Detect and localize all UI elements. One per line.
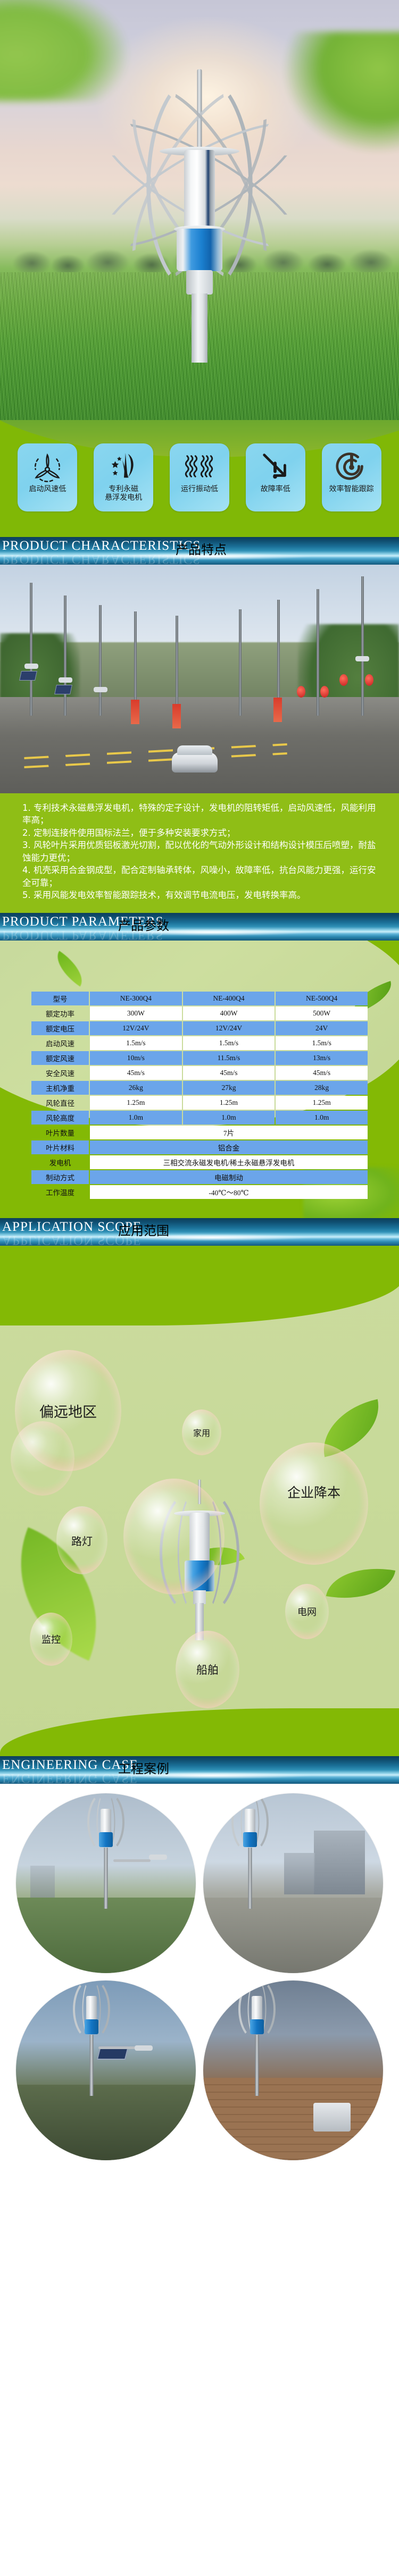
feature-item-low-vibration[interactable]: 运行振动低	[168, 443, 231, 511]
case-photo-grid	[16, 1793, 383, 2160]
turbine-rotor	[237, 1981, 277, 2042]
street-lamp-head	[149, 1855, 167, 1860]
hero-wind-turbine-image	[120, 69, 279, 356]
feature-label: 故障率低	[261, 485, 290, 493]
street-lamp-pole	[361, 576, 364, 716]
row-value: 1.25m	[183, 1096, 275, 1110]
background-building	[314, 1831, 365, 1894]
row-value: 45m/s	[183, 1066, 275, 1080]
bubble-label: 偏远地区	[39, 1400, 97, 1421]
street-lamp-head	[355, 656, 369, 661]
generator-housing	[177, 229, 222, 271]
feature-label: 运行振动低	[181, 485, 218, 493]
turbine-rotor	[86, 1793, 126, 1855]
feature-badge: 启动风速低	[18, 443, 77, 511]
row-value: 300W	[90, 1006, 182, 1020]
row-value: 26kg	[90, 1081, 182, 1095]
application-bubble-street-light[interactable]: 路灯	[56, 1506, 107, 1574]
row-value: 11.5m/s	[183, 1051, 275, 1065]
row-value: 24V	[276, 1021, 368, 1035]
row-value: NE-400Q4	[183, 992, 275, 1005]
row-label: 启动风速	[31, 1036, 89, 1050]
row-value: 45m/s	[90, 1066, 182, 1080]
top-green-shape	[0, 1246, 399, 1325]
street-lamp-head	[24, 664, 38, 669]
row-value: 7片	[90, 1126, 368, 1139]
table-row: 风轮直径1.25m1.25m1.25m	[31, 1096, 368, 1110]
row-value: 1.0m	[90, 1111, 182, 1125]
table-row: 工作温度-40℃～80℃	[31, 1185, 368, 1199]
red-lantern	[320, 686, 329, 698]
row-label: 风轮高度	[31, 1111, 89, 1125]
turbine-pole	[248, 1848, 252, 1909]
table-row: 额定风速10m/s11.5m/s13m/s	[31, 1051, 368, 1065]
table-row: 制动方式电磁制动	[31, 1170, 368, 1184]
feature-badge: 专利永磁 悬浮发电机	[94, 443, 153, 511]
application-scope-section: 偏远地区 家用 企业降本 路灯 电网 监控 船舶	[0, 1246, 399, 1756]
row-label: 额定风速	[31, 1051, 89, 1065]
feature-item-start-wind-speed[interactable]: 启动风速低	[16, 443, 79, 511]
characteristic-line: 5. 采用风能发电效率智能跟踪技术，有效调节电流电压，发电转换率高。	[22, 889, 377, 901]
lamp-arm	[98, 2046, 136, 2049]
characteristics-text-block: 1. 专利技术永磁悬浮发电机，特殊的定子设计，发电机的阻转矩低，启动风速低，风能…	[0, 793, 399, 913]
row-label: 额定功率	[31, 1006, 89, 1020]
turbine-pole	[192, 293, 207, 363]
decorative-leaf-icon	[326, 1559, 395, 1607]
banner-title-cn: 应用范围	[118, 1220, 169, 1239]
row-value: 1.5m/s	[90, 1036, 182, 1050]
table-row: 风轮高度1.0m1.0m1.0m	[31, 1111, 368, 1125]
section-banner-engineering: ENGINEERING CASE ENGINEERING CASE 工程案例	[0, 1756, 399, 1784]
patent-magnetic-blade-icon	[106, 450, 140, 483]
row-value: 27kg	[183, 1081, 275, 1095]
banner-title-en-reflection: PRODUCT CHARACTERISTICS	[2, 551, 201, 565]
decorative-red-banner	[131, 700, 139, 724]
street-application-photo	[0, 565, 399, 793]
product-landing-page: 启动风速低 专利永磁 悬浮发电机	[0, 0, 399, 2176]
decorative-red-banner	[172, 704, 181, 728]
ground	[16, 2085, 196, 2160]
table-row: 额定功率300W400W500W	[31, 1006, 368, 1020]
feature-icon-strip: 启动风速低 专利永磁 悬浮发电机	[0, 420, 399, 537]
row-label: 制动方式	[31, 1170, 89, 1184]
table-row: 叶片材料铝合金	[31, 1140, 368, 1154]
wind-turbine-fan-icon	[30, 450, 64, 483]
banner-title-cn: 工程案例	[118, 1758, 169, 1777]
turbine-pole	[104, 1848, 108, 1909]
street-lamp-head	[94, 687, 107, 692]
application-bubble-monitoring[interactable]: 监控	[30, 1613, 72, 1666]
table-row: 主机净重26kg27kg28kg	[31, 1081, 368, 1095]
street-lamp-pole	[239, 609, 242, 716]
row-label: 型号	[31, 992, 89, 1005]
turbine-neck	[186, 270, 213, 295]
feature-badge: 运行振动低	[170, 443, 229, 511]
red-lantern	[365, 674, 373, 686]
case-photo-street-light-turbine[interactable]	[16, 1793, 196, 1973]
hero-banner	[0, 0, 399, 420]
generator-housing	[85, 2019, 98, 2034]
generator-housing	[250, 2019, 264, 2034]
application-bubble-power-grid[interactable]: 电网	[285, 1584, 329, 1639]
red-lantern	[339, 674, 348, 686]
application-bubble-enterprise-cost[interactable]: 企业降本	[260, 1442, 368, 1565]
solar-panel	[54, 685, 72, 694]
banner-title-cn: 产品参数	[118, 915, 169, 934]
street-lamp-head	[59, 677, 72, 683]
row-label: 叶片材料	[31, 1140, 89, 1154]
row-value: 1.5m/s	[276, 1036, 368, 1050]
case-photo-turbine-parking-lot[interactable]	[203, 1793, 383, 1973]
characteristic-line: 1. 专利技术永磁悬浮发电机，特殊的定子设计，发电机的阻转矩低，启动风速低，风能…	[22, 802, 377, 827]
feature-label: 启动风速低	[29, 485, 66, 493]
row-value: 1.5m/s	[183, 1036, 275, 1050]
row-value: 三相交流永磁发电机/稀土永磁悬浮发电机	[90, 1155, 368, 1169]
row-value: NE-500Q4	[276, 992, 368, 1005]
turbine-neck	[193, 1590, 206, 1604]
street-lamp-pole	[30, 583, 32, 716]
turbine-body	[184, 150, 215, 230]
turbine-rotor	[230, 1793, 270, 1855]
row-value: 铝合金	[90, 1140, 368, 1154]
street-lamp-pole	[317, 589, 319, 716]
table-row: 启动风速1.5m/s1.5m/s1.5m/s	[31, 1036, 368, 1050]
feature-list: 启动风速低 专利永磁 悬浮发电机	[0, 443, 399, 511]
row-label: 风轮直径	[31, 1096, 89, 1110]
feature-badge: 效率智能跟踪	[322, 443, 381, 511]
table-row: 安全风速45m/s45m/s45m/s	[31, 1066, 368, 1080]
generator-housing	[99, 1832, 113, 1847]
specification-table: 型号NE-300Q4NE-400Q4NE-500Q4 额定功率300W400W5…	[30, 991, 369, 1200]
row-value: 28kg	[276, 1081, 368, 1095]
bubble-label: 电网	[297, 1605, 317, 1618]
row-value: 电磁制动	[90, 1170, 368, 1184]
application-bubble-ship[interactable]: 船舶	[176, 1631, 239, 1708]
table-row: 发电机三相交流永磁发电机/稀土永磁悬浮发电机	[31, 1155, 368, 1169]
row-value: 1.0m	[183, 1111, 275, 1125]
table-row: 型号NE-300Q4NE-400Q4NE-500Q4	[31, 992, 368, 1005]
feature-label: 专利永磁 悬浮发电机	[105, 485, 142, 502]
table-row: 额定电压12V/24V12V/24V24V	[31, 1021, 368, 1035]
section-banner-characteristics: PRODUCT CHARACTERISTICS PRODUCT CHARACTE…	[0, 537, 399, 565]
case-photo-turbine-solar-street-lamp[interactable]	[16, 1981, 196, 2160]
row-label: 叶片数量	[31, 1126, 89, 1139]
row-label: 额定电压	[31, 1021, 89, 1035]
application-bubble-household[interactable]: 家用	[182, 1409, 221, 1455]
downward-arrow-icon	[259, 450, 293, 483]
row-label: 安全风速	[31, 1066, 89, 1080]
decorative-leaf-top-right	[282, 32, 399, 154]
street-lamp-pole	[176, 616, 178, 716]
section-banner-application: APPLICATION SCOPE APPLICATION SCOPE 应用范围	[0, 1218, 399, 1246]
feature-item-patent-generator[interactable]: 专利永磁 悬浮发电机	[92, 443, 155, 511]
row-label: 工作温度	[31, 1185, 89, 1199]
row-label: 发电机	[31, 1155, 89, 1169]
street-lamp-head	[135, 2045, 153, 2051]
row-value: 1.0m	[276, 1111, 368, 1125]
smart-tracking-power-icon	[335, 450, 369, 483]
turbine-pole	[89, 2035, 93, 2096]
row-value: NE-300Q4	[90, 992, 182, 1005]
street-lamp-pole	[99, 605, 102, 716]
row-value: 10m/s	[90, 1051, 182, 1065]
row-value: 500W	[276, 1006, 368, 1020]
maintenance-lift	[313, 2103, 351, 2132]
row-value: 12V/24V	[183, 1021, 275, 1035]
red-lantern	[297, 686, 305, 698]
lamp-arm	[113, 1859, 151, 1862]
characteristic-line: 4. 机壳采用合金钢成型，配合定制轴承转体，风噪小，故障率低，抗台风能力更强，运…	[22, 864, 377, 889]
solar-panel	[19, 671, 37, 681]
row-value: 45m/s	[276, 1066, 368, 1080]
turbine-pole	[255, 2035, 259, 2096]
product-parameters-section: 型号NE-300Q4NE-400Q4NE-500Q4 额定功率300W400W5…	[0, 941, 399, 1218]
bubble-label: 家用	[193, 1426, 210, 1439]
feature-label: 效率智能跟踪	[329, 485, 374, 493]
row-value: -40℃～80℃	[90, 1185, 368, 1199]
brick-wall	[203, 2078, 383, 2160]
street-lamp-pole	[64, 595, 66, 716]
row-value: 1.25m	[276, 1096, 368, 1110]
ground	[16, 1898, 196, 1973]
banner-title-cn: 产品特点	[176, 539, 227, 558]
table-row: 叶片数量7片	[31, 1126, 368, 1139]
feature-item-smart-tracking[interactable]: 效率智能跟踪	[320, 443, 383, 511]
bubble-label: 路灯	[71, 1533, 93, 1548]
low-vibration-waves-icon	[182, 450, 217, 483]
ground	[203, 1898, 383, 1973]
decorative-red-banner	[273, 698, 282, 722]
characteristic-line: 2. 定制连接件使用国标法兰，便于多种安装要求方式；	[22, 827, 377, 839]
decorative-leaf-top-left	[0, 0, 128, 101]
characteristic-line: 3. 风轮叶片采用优质铝板激光切割，配以优化的气动外形设计和结构设计模压后喷塑，…	[22, 839, 377, 864]
section-banner-parameters: PRODUCT PARAMETERS PRODUCT PARAMETERS 产品…	[0, 913, 399, 941]
row-value: 400W	[183, 1006, 275, 1020]
generator-housing	[243, 1832, 257, 1847]
bottom-green-shape	[0, 1708, 399, 1756]
decorative-bubble	[123, 1479, 225, 1595]
row-value: 13m/s	[276, 1051, 368, 1065]
feature-badge: 故障率低	[246, 443, 305, 511]
background-building	[30, 1866, 55, 1898]
car-on-road	[172, 752, 218, 773]
decorative-bubble	[11, 1421, 74, 1496]
bubble-label: 监控	[41, 1632, 61, 1646]
specification-table-body: 型号NE-300Q4NE-400Q4NE-500Q4 额定功率300W400W5…	[31, 992, 368, 1199]
turbine-rotor	[72, 1981, 111, 2042]
engineering-case-section	[0, 1784, 399, 2176]
row-value: 1.25m	[90, 1096, 182, 1110]
feature-item-low-failure-rate[interactable]: 故障率低	[244, 443, 307, 511]
row-label: 主机净重	[31, 1081, 89, 1095]
bubble-label: 船舶	[196, 1662, 219, 1677]
row-value: 12V/24V	[90, 1021, 182, 1035]
bubble-label: 企业降本	[287, 1482, 340, 1501]
background-building	[284, 1853, 315, 1894]
case-photo-rooftop-turbine-install[interactable]	[203, 1981, 383, 2160]
